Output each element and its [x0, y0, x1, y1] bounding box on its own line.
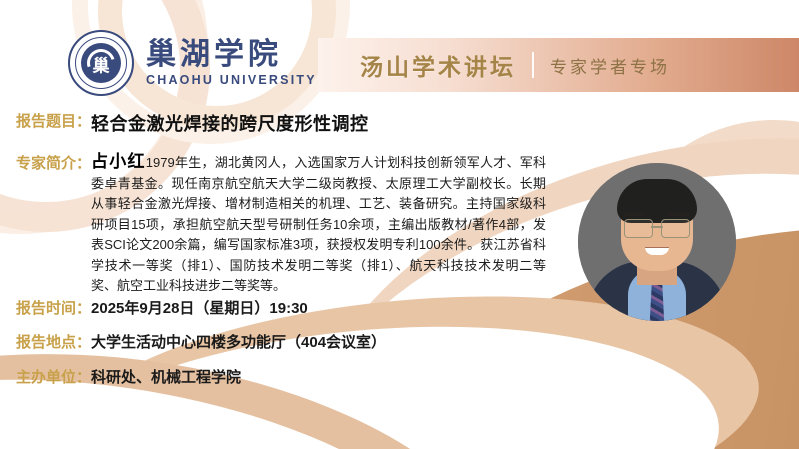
report-title-row: 报告题目： 轻合金激光焊接的跨尺度形性调控 [16, 110, 369, 136]
report-title-value: 轻合金激光焊接的跨尺度形性调控 [91, 110, 369, 136]
host-organization-row: 主办单位： 科研处、机械工程学院 [16, 366, 241, 387]
seal-mark-glyph: 巢 [93, 52, 110, 77]
report-time-label: 报告时间： [16, 297, 91, 318]
report-title-label: 报告题目： [16, 110, 91, 131]
poster-content: 报告题目： 轻合金激光焊接的跨尺度形性调控 专家简介： 占小红1979年生，湖北… [0, 0, 799, 449]
report-time-row: 报告时间： 2025年9月28日（星期日）19:30 [16, 297, 308, 318]
speaker-bio-row: 专家简介： 占小红1979年生，湖北黄冈人，入选国家万人计划科技创新领军人才、军… [16, 152, 546, 297]
speaker-bio-text: 1979年生，湖北黄冈人，入选国家万人计划科技创新领军人才、军科委卓青基金。现任… [91, 155, 546, 293]
speaker-name: 占小红 [91, 152, 146, 171]
report-place-label: 报告地点： [16, 331, 91, 352]
report-place-row: 报告地点： 大学生活动中心四楼多功能厅（404会议室） [16, 331, 386, 352]
speaker-bio-body: 占小红1979年生，湖北黄冈人，入选国家万人计划科技创新领军人才、军科委卓青基金… [91, 152, 546, 297]
speaker-bio-label: 专家简介： [16, 152, 91, 173]
host-organization-label: 主办单位： [16, 366, 91, 387]
report-time-value: 2025年9月28日（星期日）19:30 [91, 297, 308, 318]
host-organization-value: 科研处、机械工程学院 [91, 366, 241, 387]
poster-canvas: 汤山学术讲坛 专家学者专场 巢 巢湖学院 CHAOHU UNIVERSITY [0, 0, 799, 449]
report-place-value: 大学生活动中心四楼多功能厅（404会议室） [91, 331, 386, 352]
